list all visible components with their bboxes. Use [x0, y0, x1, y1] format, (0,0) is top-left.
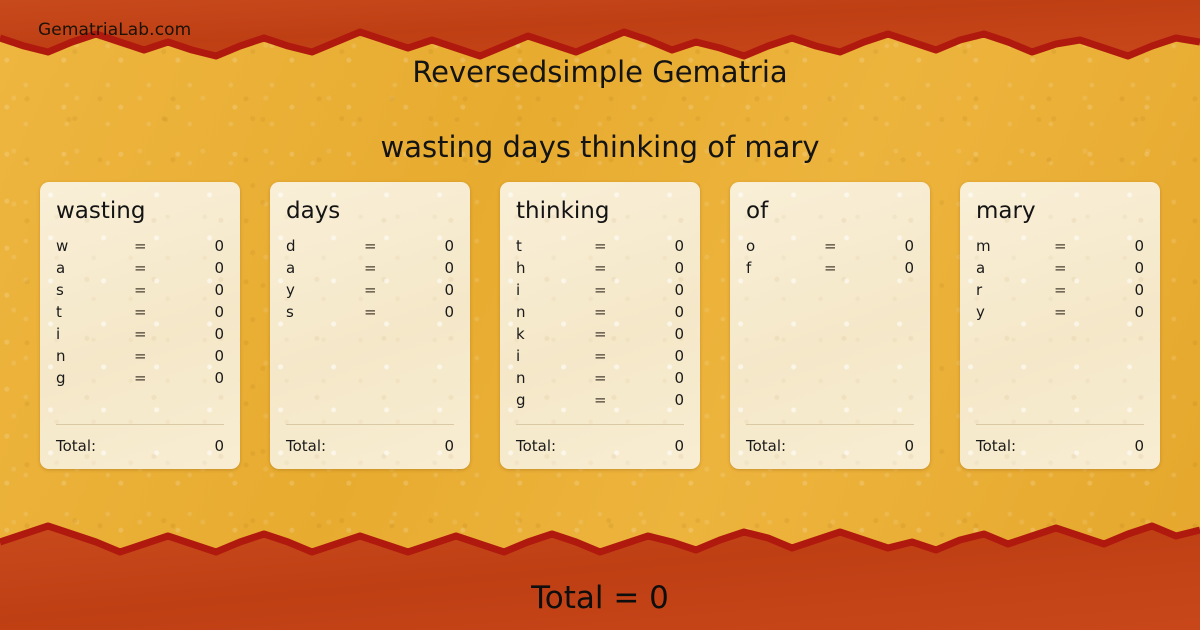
letter-row: w = 0 — [56, 237, 224, 259]
letter-row: t = 0 — [56, 303, 224, 325]
letter-name: i — [516, 347, 594, 365]
letter-value: 0 — [1096, 303, 1144, 321]
word-card-footer: Total: 0 — [516, 424, 684, 455]
letter-value: 0 — [406, 303, 454, 321]
equals-sign: = — [134, 369, 176, 387]
equals-sign: = — [1054, 259, 1096, 277]
letter-value: 0 — [866, 237, 914, 255]
letter-value: 0 — [1096, 259, 1144, 277]
letter-value: 0 — [176, 325, 224, 343]
word-card-title: wasting — [56, 200, 224, 223]
letter-row-list: m = 0 a = 0 r = 0 y = 0 — [976, 237, 1144, 325]
letter-name: t — [516, 237, 594, 255]
equals-sign: = — [134, 237, 176, 255]
word-total-value: 0 — [214, 437, 224, 455]
letter-value: 0 — [176, 303, 224, 321]
letter-row: i = 0 — [516, 347, 684, 369]
card-divider — [286, 424, 454, 425]
equals-sign: = — [364, 281, 406, 299]
letter-row-list: o = 0 f = 0 — [746, 237, 914, 281]
letter-value: 0 — [176, 347, 224, 365]
card-divider — [746, 424, 914, 425]
word-card: days d = 0 a = 0 y = 0 s = 0 Total: 0 — [270, 182, 470, 469]
word-card: mary m = 0 a = 0 r = 0 y = 0 Total: 0 — [960, 182, 1160, 469]
letter-name: y — [286, 281, 364, 299]
letter-row: n = 0 — [56, 347, 224, 369]
letter-row: i = 0 — [516, 281, 684, 303]
letter-row-list: w = 0 a = 0 s = 0 t = 0 i = 0 n = 0 g = … — [56, 237, 224, 391]
equals-sign: = — [594, 325, 636, 343]
letter-row: n = 0 — [516, 369, 684, 391]
letter-name: k — [516, 325, 594, 343]
equals-sign: = — [134, 303, 176, 321]
letter-value: 0 — [636, 391, 684, 409]
letter-row: k = 0 — [516, 325, 684, 347]
letter-value: 0 — [176, 237, 224, 255]
word-total-label: Total: — [746, 437, 786, 455]
letter-name: r — [976, 281, 1054, 299]
word-card-title: of — [746, 200, 914, 223]
letter-row-list: t = 0 h = 0 i = 0 n = 0 k = 0 i = 0 n = … — [516, 237, 684, 413]
letter-row: g = 0 — [56, 369, 224, 391]
letter-name: o — [746, 237, 824, 255]
letter-name: a — [56, 259, 134, 277]
letter-name: h — [516, 259, 594, 277]
phrase-title: wasting days thinking of mary — [0, 131, 1200, 164]
letter-name: m — [976, 237, 1054, 255]
letter-row: o = 0 — [746, 237, 914, 259]
site-logo[interactable]: GematriaLab.com — [38, 20, 191, 40]
letter-row: h = 0 — [516, 259, 684, 281]
letter-row: i = 0 — [56, 325, 224, 347]
word-card-title: days — [286, 200, 454, 223]
word-total-line: Total: 0 — [56, 437, 224, 455]
equals-sign: = — [364, 259, 406, 277]
word-total-value: 0 — [444, 437, 454, 455]
letter-row: s = 0 — [56, 281, 224, 303]
letter-row: a = 0 — [286, 259, 454, 281]
letter-value: 0 — [636, 369, 684, 387]
word-total-value: 0 — [674, 437, 684, 455]
letter-name: n — [56, 347, 134, 365]
letter-value: 0 — [1096, 281, 1144, 299]
word-card-footer: Total: 0 — [976, 424, 1144, 455]
letter-name: g — [516, 391, 594, 409]
card-divider — [516, 424, 684, 425]
equals-sign: = — [594, 391, 636, 409]
letter-name: i — [56, 325, 134, 343]
equals-sign: = — [1054, 237, 1096, 255]
letter-name: a — [976, 259, 1054, 277]
letter-row: r = 0 — [976, 281, 1144, 303]
letter-row: n = 0 — [516, 303, 684, 325]
word-total-label: Total: — [516, 437, 556, 455]
word-total-label: Total: — [56, 437, 96, 455]
equals-sign: = — [824, 259, 866, 277]
word-card-title: mary — [976, 200, 1144, 223]
letter-name: w — [56, 237, 134, 255]
equals-sign: = — [134, 347, 176, 365]
equals-sign: = — [134, 281, 176, 299]
grand-total: Total = 0 — [0, 580, 1200, 616]
word-total-line: Total: 0 — [516, 437, 684, 455]
word-total-label: Total: — [976, 437, 1016, 455]
letter-value: 0 — [176, 259, 224, 277]
letter-name: d — [286, 237, 364, 255]
letter-value: 0 — [406, 259, 454, 277]
letter-name: a — [286, 259, 364, 277]
equals-sign: = — [364, 237, 406, 255]
equals-sign: = — [824, 237, 866, 255]
letter-row: s = 0 — [286, 303, 454, 325]
letter-row: a = 0 — [976, 259, 1144, 281]
equals-sign: = — [594, 237, 636, 255]
letter-value: 0 — [636, 303, 684, 321]
letter-name: n — [516, 369, 594, 387]
letter-row: a = 0 — [56, 259, 224, 281]
equals-sign: = — [1054, 281, 1096, 299]
equals-sign: = — [594, 369, 636, 387]
letter-row: f = 0 — [746, 259, 914, 281]
word-card-footer: Total: 0 — [286, 424, 454, 455]
letter-row: y = 0 — [976, 303, 1144, 325]
word-total-label: Total: — [286, 437, 326, 455]
equals-sign: = — [134, 325, 176, 343]
word-card: wasting w = 0 a = 0 s = 0 t = 0 i = 0 n … — [40, 182, 240, 469]
letter-name: f — [746, 259, 824, 277]
equals-sign: = — [594, 303, 636, 321]
letter-value: 0 — [636, 259, 684, 277]
card-divider — [56, 424, 224, 425]
letter-row: m = 0 — [976, 237, 1144, 259]
equals-sign: = — [594, 281, 636, 299]
card-divider — [976, 424, 1144, 425]
equals-sign: = — [364, 303, 406, 321]
letter-value: 0 — [636, 325, 684, 343]
letter-name: s — [286, 303, 364, 321]
letter-row: t = 0 — [516, 237, 684, 259]
page-canvas: GematriaLab.com Reversedsimple Gematria … — [0, 0, 1200, 630]
equals-sign: = — [594, 259, 636, 277]
letter-row: g = 0 — [516, 391, 684, 413]
word-card-footer: Total: 0 — [56, 424, 224, 455]
letter-name: s — [56, 281, 134, 299]
letter-name: t — [56, 303, 134, 321]
word-total-line: Total: 0 — [746, 437, 914, 455]
word-card: of o = 0 f = 0 Total: 0 — [730, 182, 930, 469]
letter-row-list: d = 0 a = 0 y = 0 s = 0 — [286, 237, 454, 325]
letter-value: 0 — [176, 369, 224, 387]
letter-name: g — [56, 369, 134, 387]
letter-value: 0 — [406, 237, 454, 255]
letter-value: 0 — [636, 347, 684, 365]
letter-value: 0 — [406, 281, 454, 299]
word-total-line: Total: 0 — [286, 437, 454, 455]
word-total-value: 0 — [1134, 437, 1144, 455]
letter-name: i — [516, 281, 594, 299]
equals-sign: = — [1054, 303, 1096, 321]
word-card-footer: Total: 0 — [746, 424, 914, 455]
word-total-value: 0 — [904, 437, 914, 455]
word-card-list: wasting w = 0 a = 0 s = 0 t = 0 i = 0 n … — [40, 182, 1160, 469]
letter-name: n — [516, 303, 594, 321]
letter-value: 0 — [866, 259, 914, 277]
letter-value: 0 — [636, 237, 684, 255]
page-title: Reversedsimple Gematria — [0, 56, 1200, 89]
letter-row: y = 0 — [286, 281, 454, 303]
letter-value: 0 — [636, 281, 684, 299]
equals-sign: = — [594, 347, 636, 365]
letter-row: d = 0 — [286, 237, 454, 259]
equals-sign: = — [134, 259, 176, 277]
word-card-title: thinking — [516, 200, 684, 223]
letter-name: y — [976, 303, 1054, 321]
word-card: thinking t = 0 h = 0 i = 0 n = 0 k = 0 i… — [500, 182, 700, 469]
word-total-line: Total: 0 — [976, 437, 1144, 455]
letter-value: 0 — [176, 281, 224, 299]
letter-value: 0 — [1096, 237, 1144, 255]
heading-block: Reversedsimple Gematria wasting days thi… — [0, 56, 1200, 165]
